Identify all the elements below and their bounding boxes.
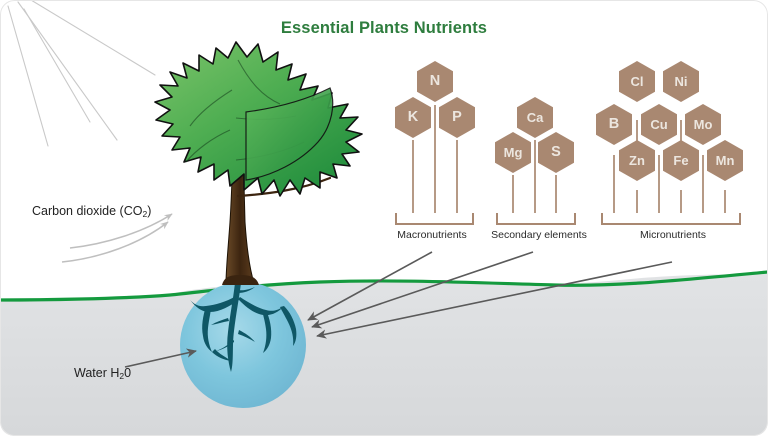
water-label: Water H20 (74, 366, 131, 381)
carbon-dioxide-label: Carbon dioxide (CO2) (32, 204, 151, 219)
water-text: Water H (74, 366, 119, 380)
carbon-dioxide-text: Carbon dioxide (CO (32, 204, 142, 218)
group-label-secondary-elements: Secondary elements (487, 229, 591, 241)
page-title: Essential Plants Nutrients (0, 19, 768, 38)
carbon-dioxide-paren: ) (147, 204, 151, 218)
group-label-micronutrients: Micronutrients (600, 229, 746, 241)
group-label-macronutrients: Macronutrients (385, 229, 479, 241)
infographic-canvas: Essential Plants Nutrients Carbon dioxid… (0, 0, 768, 436)
water-tail: 0 (124, 366, 131, 380)
